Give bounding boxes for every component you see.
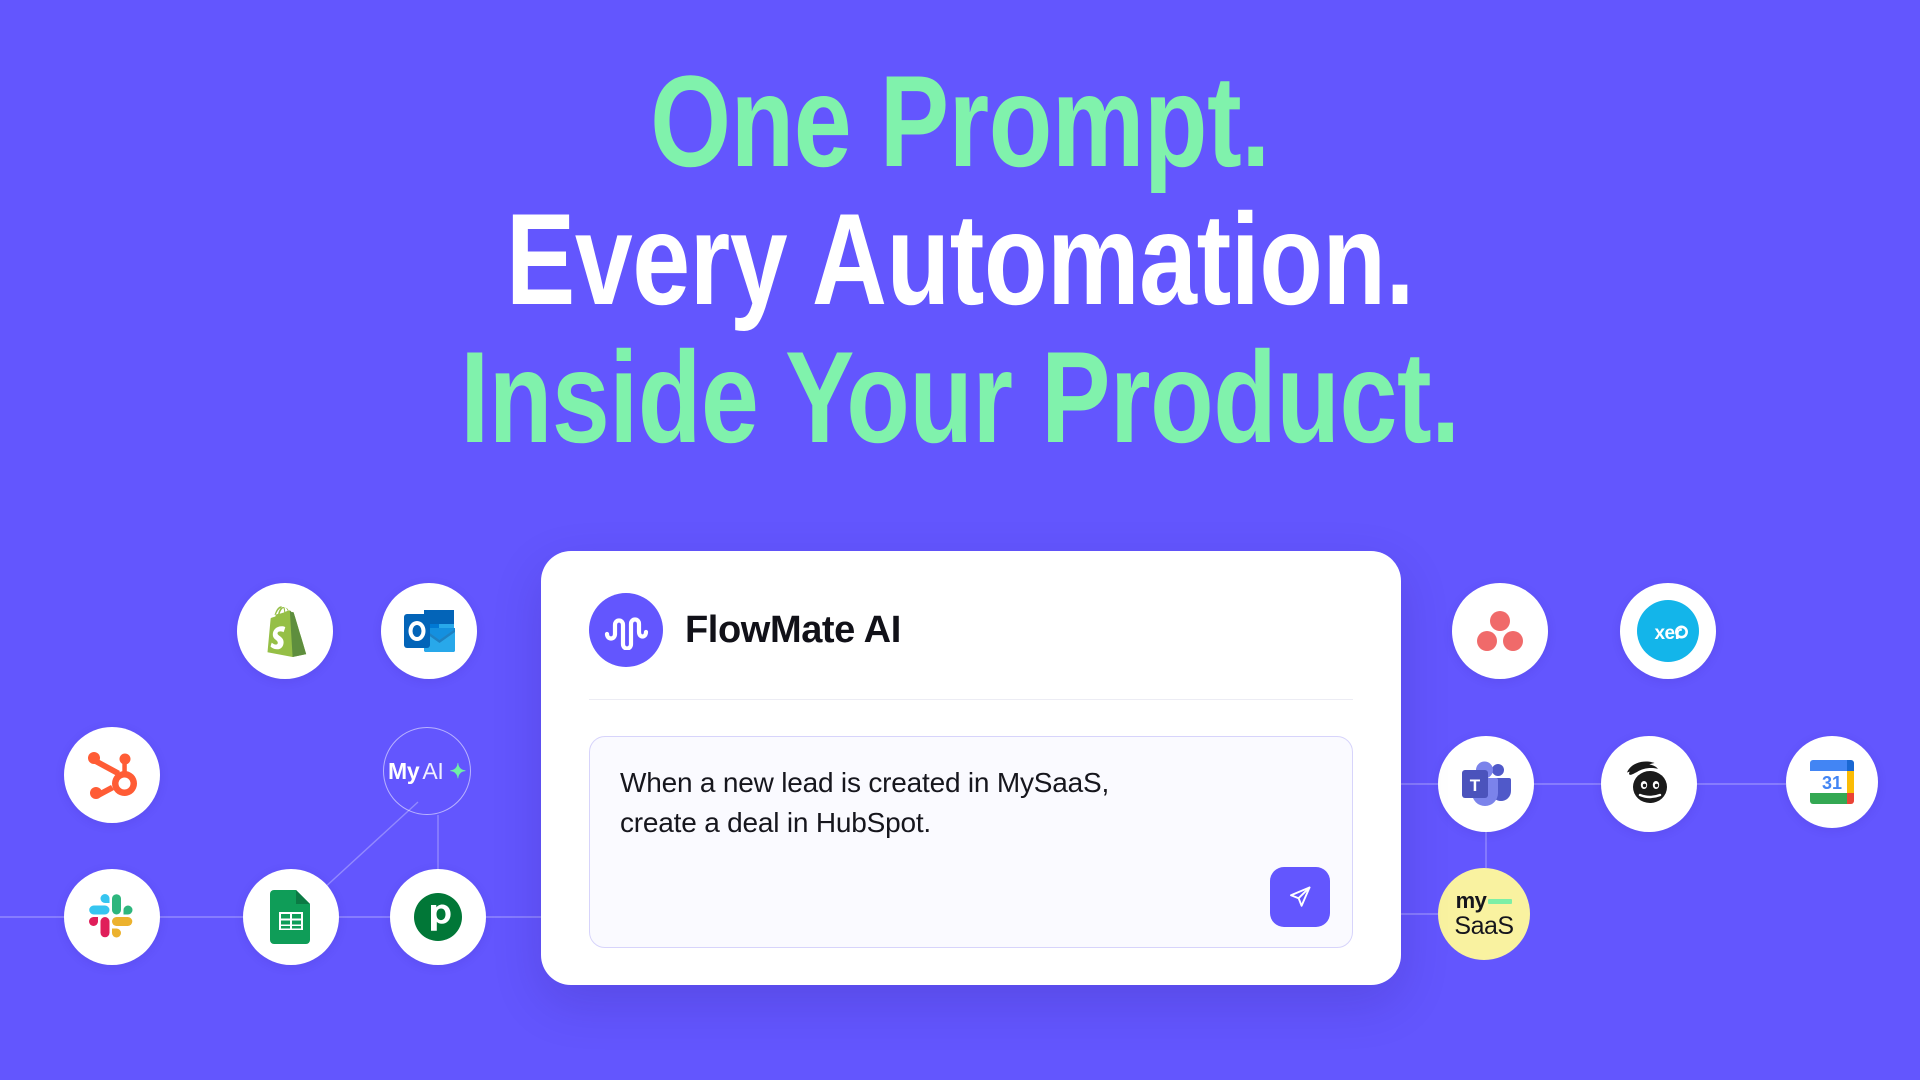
myai-label-regular: AI <box>422 758 443 785</box>
outlook-icon <box>402 606 456 656</box>
headline-line-1: One Prompt. <box>192 52 1728 190</box>
mysaas-dash <box>1488 899 1512 904</box>
send-paper-plane-icon <box>1286 883 1314 911</box>
svg-text:xer: xer <box>1654 623 1682 644</box>
flowmate-ai-card: FlowMate AI When a new lead is created i… <box>541 551 1401 985</box>
microsoft-teams-icon: T <box>1460 760 1512 808</box>
integration-node-mailchimp[interactable] <box>1601 736 1697 832</box>
card-header: FlowMate AI <box>589 593 1353 699</box>
integration-node-myai[interactable]: MyAI✦ <box>383 727 471 815</box>
prompt-input[interactable]: When a new lead is created in MySaaS, cr… <box>620 763 1322 843</box>
card-divider <box>589 699 1353 700</box>
google-sheets-icon <box>270 890 312 944</box>
integration-node-asana[interactable] <box>1452 583 1548 679</box>
shopify-icon <box>260 603 310 659</box>
hubspot-icon <box>87 749 137 801</box>
calendar-day-number: 31 <box>1822 773 1842 793</box>
integration-node-microsoft-teams[interactable]: T <box>1438 736 1534 832</box>
mysaas-line-1: my <box>1454 890 1513 912</box>
xero-icon: xer <box>1633 596 1703 666</box>
asana-icon <box>1476 609 1524 653</box>
integration-node-google-sheets[interactable] <box>243 869 339 965</box>
svg-text:T: T <box>1470 776 1481 795</box>
mailchimp-icon <box>1622 759 1676 809</box>
headline-line-2: Every Automation. <box>192 190 1728 328</box>
integration-node-xero[interactable]: xer <box>1620 583 1716 679</box>
integration-node-hubspot[interactable] <box>64 727 160 823</box>
slack-icon <box>88 893 136 941</box>
google-calendar-icon: 31 <box>1806 756 1858 808</box>
send-button[interactable] <box>1270 867 1330 927</box>
waveform-icon <box>603 610 649 650</box>
integration-node-outlook[interactable] <box>381 583 477 679</box>
hero-headline: One Prompt. Every Automation. Inside You… <box>0 52 1920 466</box>
flowmate-logo <box>589 593 663 667</box>
sparkle-icon: ✦ <box>450 759 466 784</box>
pipedrive-icon <box>412 891 464 943</box>
integration-node-google-calendar[interactable]: 31 <box>1786 736 1878 828</box>
integration-node-shopify[interactable] <box>237 583 333 679</box>
mysaas-wordmark: my SaaS <box>1454 890 1513 939</box>
integration-node-mysaas[interactable]: my SaaS <box>1438 868 1530 960</box>
mysaas-line-2: SaaS <box>1454 914 1513 939</box>
prompt-input-area[interactable]: When a new lead is created in MySaaS, cr… <box>589 736 1353 948</box>
myai-label: MyAI✦ <box>388 758 466 785</box>
integration-node-slack[interactable] <box>64 869 160 965</box>
brand-name: FlowMate AI <box>685 609 901 652</box>
headline-line-3: Inside Your Product. <box>192 328 1728 466</box>
integration-node-pipedrive[interactable] <box>390 869 486 965</box>
myai-label-bold: My <box>388 758 419 785</box>
